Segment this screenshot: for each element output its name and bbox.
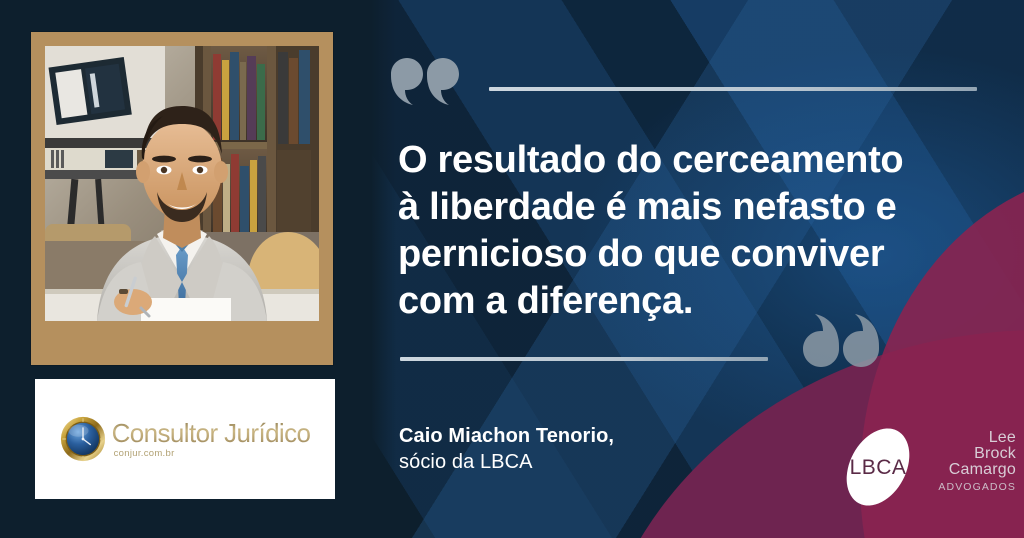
quote-text: O resultado do cerceamento à liberdade é… [398, 137, 998, 325]
background-left-panel-edge [340, 0, 396, 538]
conjur-logo-box: Consultor Jurídico conjur.com.br [35, 379, 335, 499]
quote-card: Consultor Jurídico conjur.com.br O resul… [0, 0, 1024, 538]
portrait-frame [31, 32, 333, 365]
conjur-logo-url: conjur.com.br [114, 448, 311, 459]
lbca-logo: LBCA Lee Brock Camargo ADVOGADOS [832, 424, 1018, 514]
attribution-name: Caio Miachon Tenorio, [399, 423, 614, 449]
portrait-photo [45, 46, 319, 321]
divider-bottom [400, 357, 768, 361]
lbca-word-brock: Brock [930, 446, 1016, 462]
lbca-word-advogados: ADVOGADOS [930, 479, 1016, 495]
svg-text:LBCA: LBCA [850, 456, 907, 479]
lbca-word-camargo: Camargo [930, 462, 1016, 478]
open-quote-icon [391, 58, 461, 106]
attribution: Caio Miachon Tenorio, sócio da LBCA [399, 423, 614, 475]
quote-line-3: pernicioso do que conviver [398, 231, 998, 278]
quote-line-4: com a diferença. [398, 278, 998, 325]
quote-line-1: O resultado do cerceamento [398, 137, 998, 184]
clock-emblem-icon [60, 416, 106, 462]
attribution-role: sócio da LBCA [399, 449, 614, 475]
conjur-logo-name: Consultor Jurídico [112, 420, 311, 446]
lbca-word-lee: Lee [930, 430, 1016, 446]
divider-top [489, 87, 977, 91]
portrait-illustration [45, 46, 319, 321]
lbca-badge-icon: LBCA [832, 424, 924, 510]
quote-line-2: à liberdade é mais nefasto e [398, 184, 998, 231]
